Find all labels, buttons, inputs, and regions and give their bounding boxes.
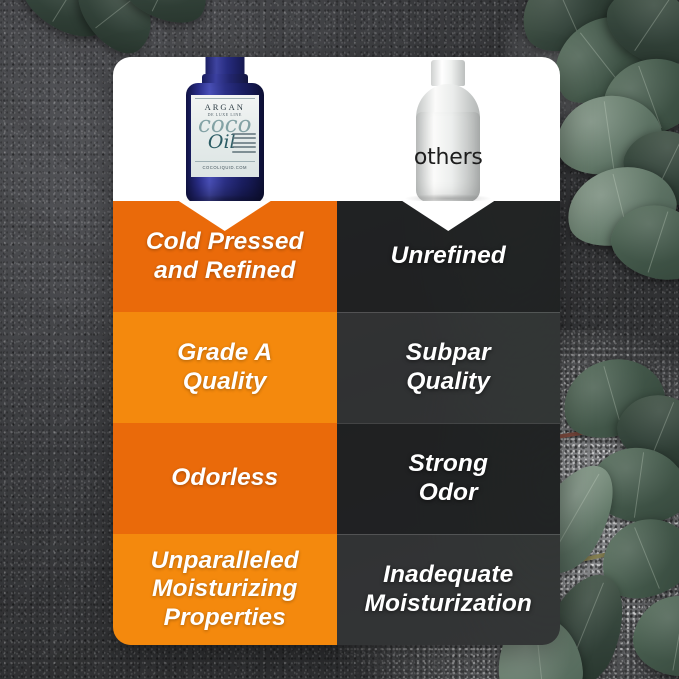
product-column: ARGAN DE LUXE LINE coco Oil COCOLIQUID.C… xyxy=(113,57,337,645)
others-hero: others xyxy=(337,57,561,201)
feature-text: Strong Odor xyxy=(408,450,488,507)
feature-text: Odorless xyxy=(171,464,278,492)
bottle-cap-icon xyxy=(431,60,465,86)
product-feature-list: Cold Pressed and Refined Grade A Quality… xyxy=(113,201,337,645)
label-fineprint xyxy=(232,133,256,153)
feature-text: Subpar Quality xyxy=(406,339,491,396)
feature-row: Unparalleled Moisturizing Properties xyxy=(113,534,337,645)
bottle-others: others xyxy=(411,60,485,202)
feature-text: Grade A Quality xyxy=(177,339,272,396)
bottle-body: others xyxy=(416,112,480,202)
product-hero: ARGAN DE LUXE LINE coco Oil COCOLIQUID.C… xyxy=(113,57,337,201)
feature-text: Unrefined xyxy=(391,242,506,270)
label-website: COCOLIQUID.COM xyxy=(191,165,259,170)
feature-text: Inadequate Moisturization xyxy=(365,561,532,618)
feature-text: Unparalleled Moisturizing Properties xyxy=(151,547,299,632)
feature-row: Strong Odor xyxy=(337,423,561,534)
feature-row: Subpar Quality xyxy=(337,312,561,423)
feature-row: Inadequate Moisturization xyxy=(337,534,561,645)
feature-row: Odorless xyxy=(113,423,337,534)
others-feature-list: Unrefined Subpar Quality Strong Odor Ina… xyxy=(337,201,561,645)
comparison-card: ARGAN DE LUXE LINE coco Oil COCOLIQUID.C… xyxy=(113,57,560,645)
others-column: others Unrefined Subpar Quality Strong O… xyxy=(337,57,561,645)
feature-text: Cold Pressed and Refined xyxy=(146,228,304,285)
bottle-label: ARGAN DE LUXE LINE coco Oil COCOLIQUID.C… xyxy=(191,95,259,177)
label-brand: ARGAN xyxy=(191,102,259,112)
bottle-argan-coco-oil: ARGAN DE LUXE LINE coco Oil COCOLIQUID.C… xyxy=(186,57,264,203)
bottle-label-text: others xyxy=(414,145,483,170)
feature-row: Grade A Quality xyxy=(113,312,337,423)
